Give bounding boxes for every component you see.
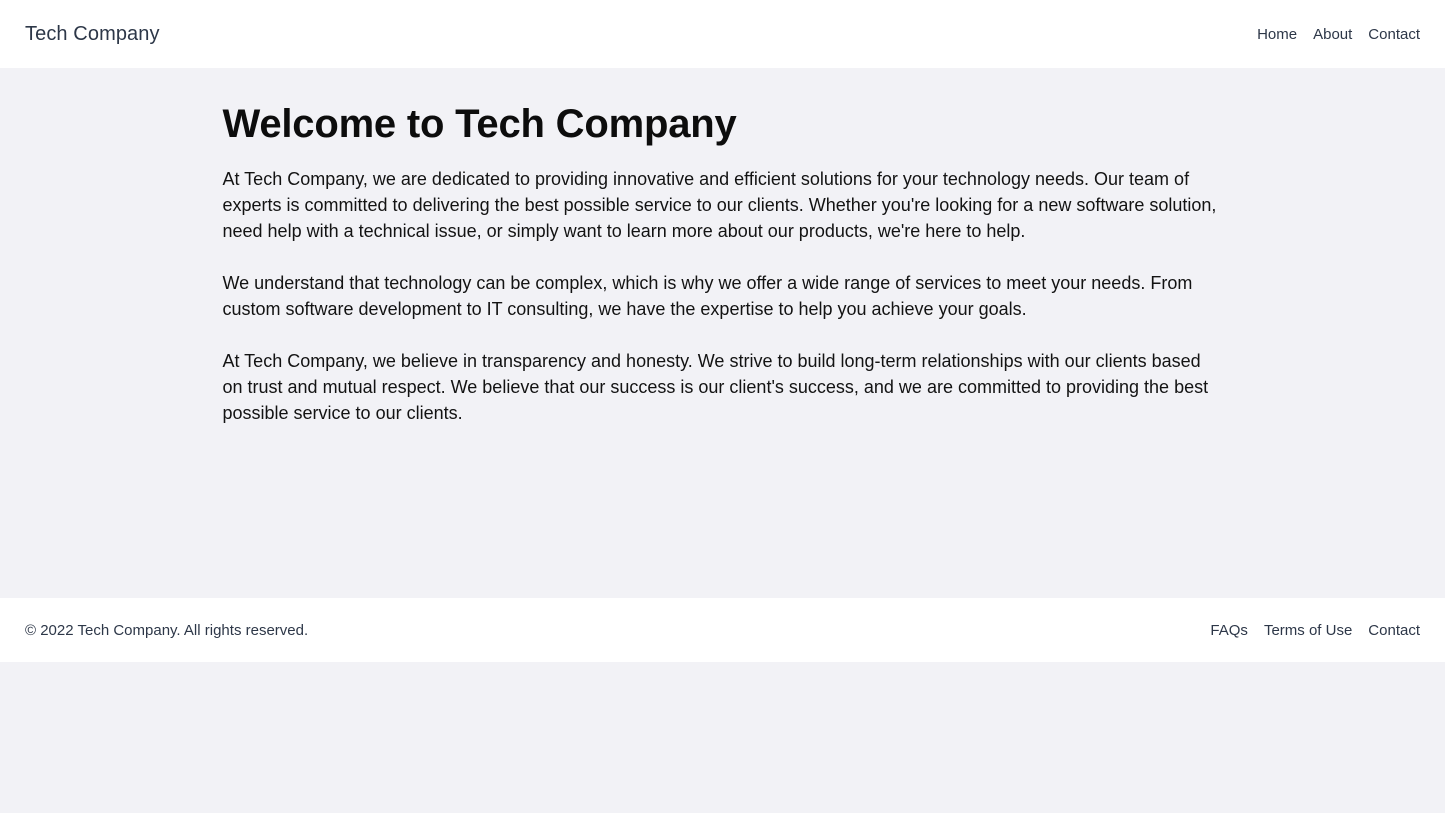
- main-content-area: Welcome to Tech Company At Tech Company,…: [0, 68, 1445, 598]
- nav-link-home[interactable]: Home: [1257, 27, 1297, 42]
- nav-link-contact[interactable]: Contact: [1368, 27, 1420, 42]
- body-paragraph-3: At Tech Company, we believe in transpare…: [223, 348, 1223, 426]
- footer-navigation: FAQs Terms of Use Contact: [1210, 623, 1420, 638]
- body-paragraph-1: At Tech Company, we are dedicated to pro…: [223, 166, 1223, 244]
- footer-link-terms-of-use[interactable]: Terms of Use: [1264, 623, 1352, 638]
- primary-navigation: Home About Contact: [1257, 27, 1420, 42]
- footer-link-faqs[interactable]: FAQs: [1210, 623, 1248, 638]
- footer-link-contact[interactable]: Contact: [1368, 623, 1420, 638]
- body-paragraph-2: We understand that technology can be com…: [223, 270, 1223, 322]
- nav-link-about[interactable]: About: [1313, 27, 1352, 42]
- site-header: Tech Company Home About Contact: [0, 0, 1445, 68]
- page-title: Welcome to Tech Company: [223, 101, 1223, 147]
- brand-logo[interactable]: Tech Company: [25, 24, 160, 44]
- copyright-text: © 2022 Tech Company. All rights reserved…: [25, 623, 308, 638]
- page-background-filler: [0, 662, 1445, 813]
- site-footer: © 2022 Tech Company. All rights reserved…: [0, 598, 1445, 662]
- content-container: Welcome to Tech Company At Tech Company,…: [223, 101, 1223, 598]
